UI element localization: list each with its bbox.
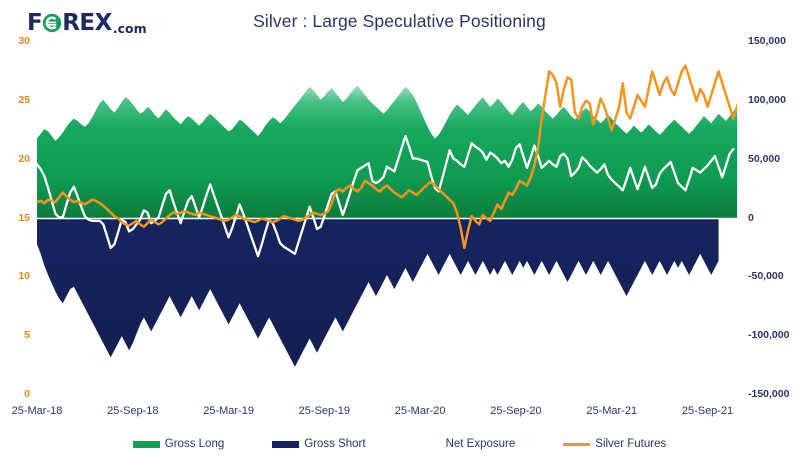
y-left-tick: 0: [0, 388, 30, 400]
legend-label: Gross Short: [304, 438, 365, 450]
x-tick: 25-Mar-20: [375, 405, 465, 417]
x-tick: 25-Sep-21: [663, 405, 753, 417]
y-left-tick: 20: [0, 153, 30, 165]
y-right-tick: 0: [748, 212, 799, 224]
y-right-tick: -100,000: [748, 329, 799, 341]
chart-svg: [0, 0, 799, 457]
series-gross-long-area: [37, 86, 737, 219]
legend-label: Silver Futures: [595, 438, 666, 450]
y-left-tick: 25: [0, 94, 30, 106]
y-right-tick: 150,000: [748, 35, 799, 47]
y-left-tick: 30: [0, 35, 30, 47]
legend-swatch: [414, 443, 441, 446]
legend-label: Gross Long: [165, 438, 224, 450]
y-right-tick: -150,000: [748, 388, 799, 400]
x-tick: 25-Sep-20: [471, 405, 561, 417]
y-right-tick: -50,000: [748, 270, 799, 282]
legend-swatch: [563, 443, 590, 446]
y-left-tick: 5: [0, 329, 30, 341]
x-tick: 25-Mar-19: [184, 405, 274, 417]
chart-plot-area: [0, 0, 799, 457]
legend-item[interactable]: Net Exposure: [414, 438, 516, 450]
x-tick: 25-Sep-18: [88, 405, 178, 417]
x-tick: 25-Mar-18: [0, 405, 82, 417]
y-left-tick: 15: [0, 212, 30, 224]
series-gross-short-area: [37, 219, 719, 367]
chart-page: F REX .com Silver : Large Speculative Po…: [0, 0, 799, 457]
x-tick: 25-Sep-19: [279, 405, 369, 417]
y-right-tick: 100,000: [748, 94, 799, 106]
legend-label: Net Exposure: [446, 438, 516, 450]
legend-swatch: [272, 441, 299, 448]
legend-item[interactable]: Gross Long: [133, 438, 224, 450]
legend-swatch: [133, 441, 160, 448]
y-left-tick: 10: [0, 270, 30, 282]
y-right-tick: 50,000: [748, 153, 799, 165]
x-tick: 25-Mar-21: [567, 405, 657, 417]
chart-legend: Gross LongGross ShortNet ExposureSilver …: [0, 434, 799, 454]
legend-item[interactable]: Gross Short: [272, 438, 365, 450]
legend-item[interactable]: Silver Futures: [563, 438, 666, 450]
